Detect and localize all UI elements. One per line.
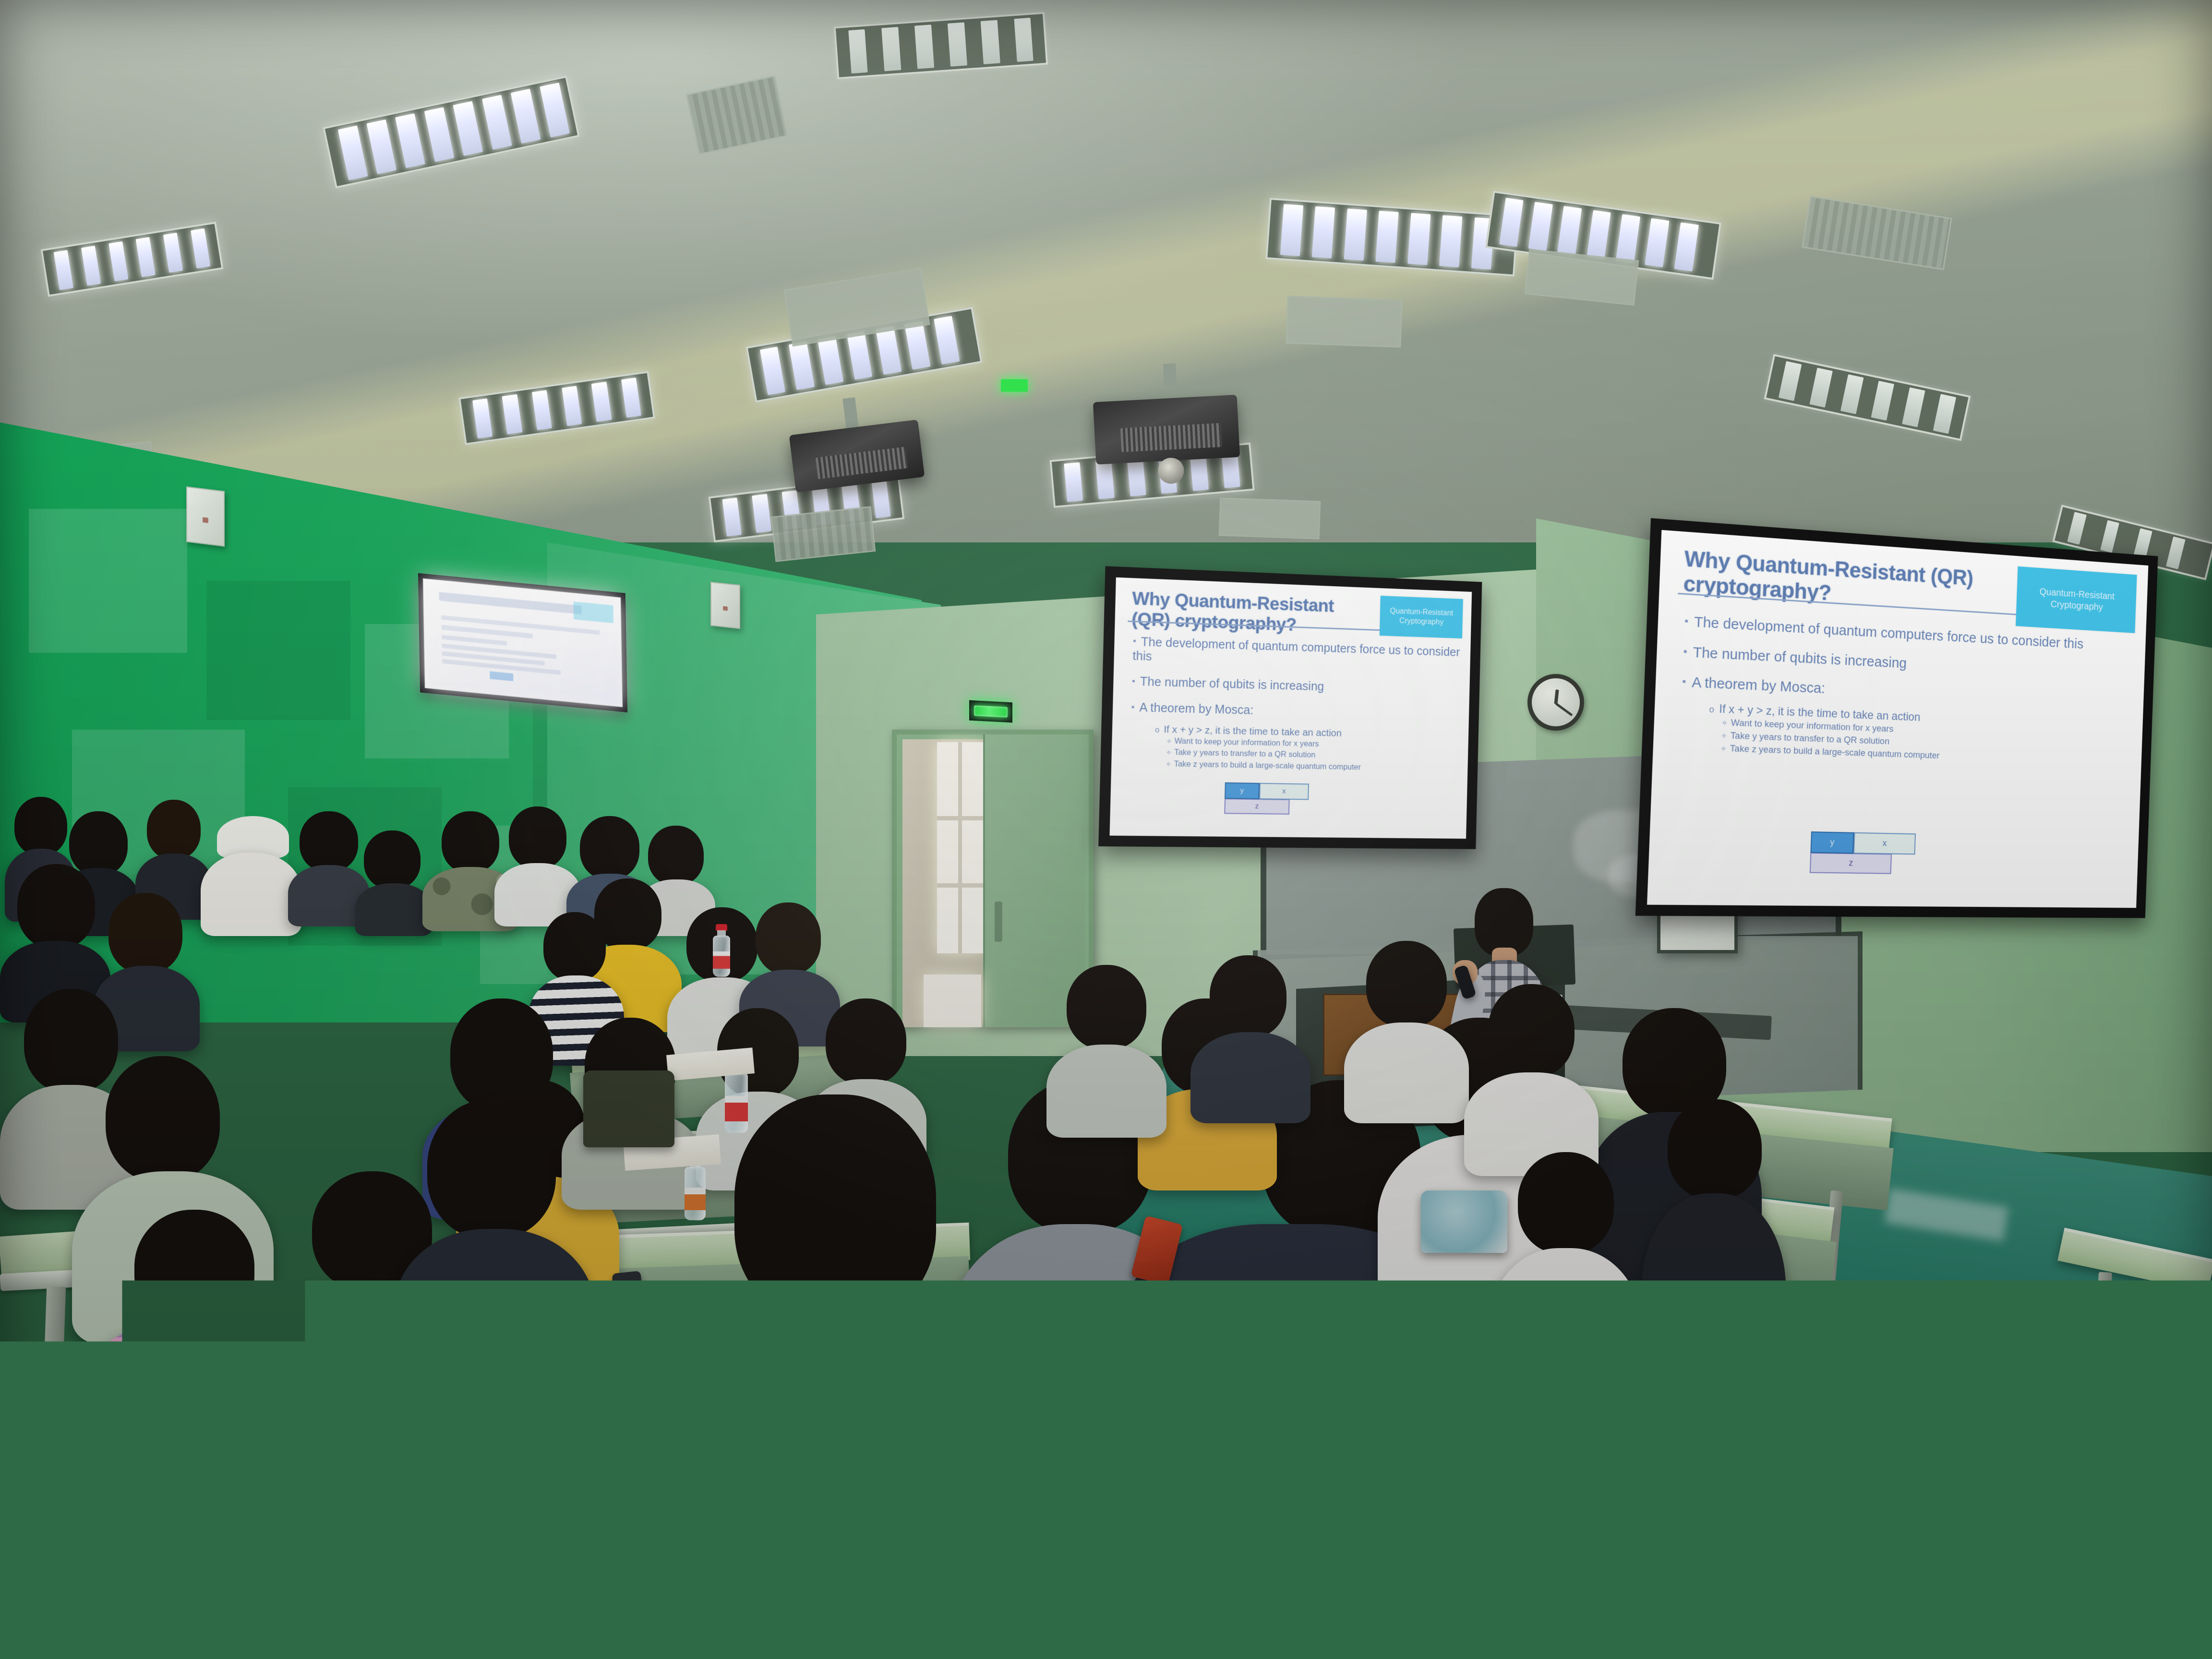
audience-member [1464, 984, 1599, 1176]
slide-badge: Quantum-Resistant Cryptography [2016, 566, 2137, 633]
backpack[interactable] [583, 1070, 674, 1147]
lecture-hall-photo: Why Quantum-Resistant (QR) cryptography?… [0, 0, 2212, 1659]
wall-clock [1527, 674, 1584, 731]
slide-bullets: The development of quantum computers for… [1680, 614, 2132, 769]
slide-title: Why Quantum-Resistant (QR) cryptography? [1683, 547, 2013, 617]
mosca-timeline-diagram: y x z [1810, 831, 1916, 874]
slide-bullet: The number of qubits is increasing [1132, 675, 1459, 698]
mosca-box-z: z [1224, 798, 1289, 815]
projection-screen-left: Why Quantum-Resistant (QR) cryptography?… [1098, 566, 1482, 849]
corridor-floor-light [924, 974, 981, 1027]
clock-hour-hand [1554, 689, 1559, 704]
audience-member-white-cap [201, 816, 301, 936]
door-handle[interactable] [995, 902, 1002, 942]
audience-member [355, 830, 432, 936]
slide-left: Why Quantum-Resistant (QR) cryptography?… [1110, 577, 1472, 839]
wall-speaker [710, 582, 740, 629]
mosca-timeline-diagram: y x z [1224, 782, 1309, 815]
water-bottle[interactable] [711, 924, 732, 977]
water-bottle-foreground[interactable] [1236, 1318, 1293, 1481]
smartphone[interactable] [612, 1271, 646, 1326]
laptop-base[interactable] [144, 1570, 413, 1659]
audience-member [1190, 955, 1310, 1123]
mosca-box-y: y [1810, 831, 1854, 854]
audience-member [1488, 1152, 1642, 1421]
projection-screen-right: Why Quantum-Resistant (QR) cryptography?… [1635, 518, 2158, 918]
presenter-head [1475, 888, 1533, 956]
slide-bullet: The development of quantum computers for… [1132, 635, 1460, 673]
mosca-box-z: z [1810, 853, 1892, 874]
mosca-box-x: x [1259, 783, 1309, 800]
slide-bullet: A theorem by Mosca: [1131, 701, 1459, 723]
audience-member [1642, 1099, 1786, 1397]
slide-right: Why Quantum-Resistant (QR) cryptography?… [1647, 530, 2148, 908]
exit-indicator-light [1001, 379, 1028, 392]
audience-member [1046, 965, 1166, 1138]
slide-bullets: The development of quantum computers for… [1130, 635, 1460, 775]
audience-member [1344, 941, 1469, 1123]
slide-badge: Quantum-Resistant Cryptography [1380, 596, 1463, 638]
hvac-vent [771, 506, 876, 562]
hvac-vent [1219, 497, 1321, 539]
window-mullion [958, 742, 962, 953]
mosca-box-x: x [1853, 832, 1916, 855]
slide-title: Why Quantum-Resistant (QR) cryptography? [1131, 589, 1370, 638]
hvac-vent [1286, 296, 1402, 348]
wall-speaker [186, 486, 225, 547]
laptop[interactable] [199, 1309, 483, 1610]
mosca-box-y: y [1225, 782, 1260, 799]
ceiling-projector [1093, 395, 1240, 465]
bag[interactable] [1421, 1190, 1507, 1253]
exit-sign [969, 700, 1012, 723]
side-monitor [418, 573, 627, 712]
clock-minute-hand [1555, 702, 1573, 716]
